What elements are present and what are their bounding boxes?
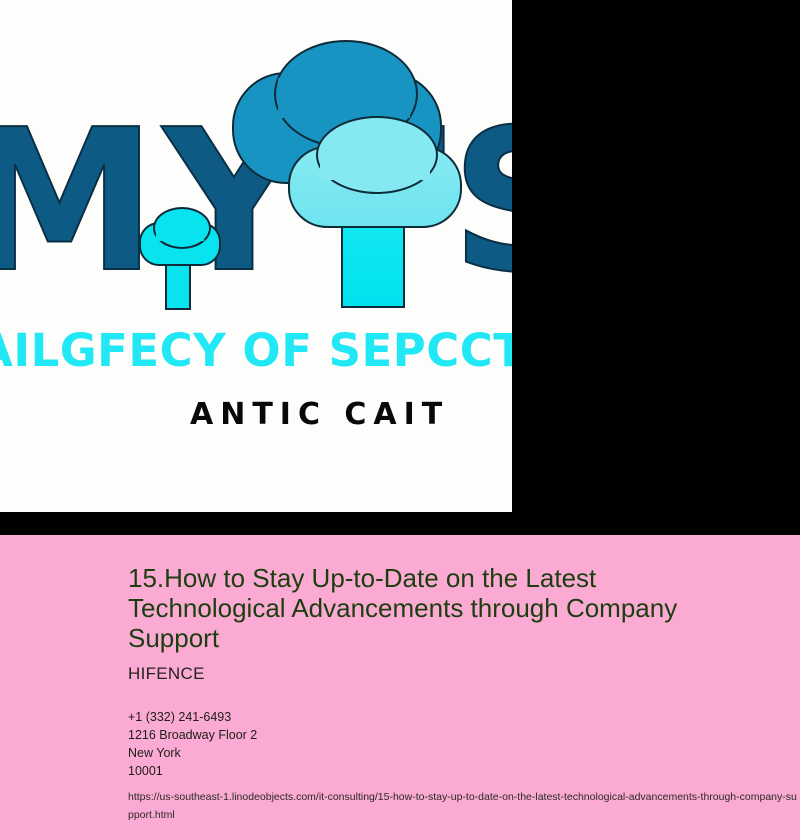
content-panel: 15.How to Stay Up-to-Date on the Latest … — [0, 535, 800, 840]
cloud-mushroom-large-icon — [288, 146, 458, 306]
cloud-mushroom-small-icon — [139, 222, 217, 304]
page-title: 15.How to Stay Up-to-Date on the Latest … — [128, 563, 728, 653]
hero-banner: MYTS AILGF — [0, 0, 800, 535]
contact-zip: 10001 — [128, 762, 257, 780]
contact-phone: +1 (332) 241-6493 — [128, 708, 257, 726]
logo-artwork: MYTS AILGF — [0, 0, 512, 512]
logo-subtagline: ANTIC CAIT — [190, 398, 449, 432]
contact-city: New York — [128, 744, 257, 762]
brand-label: HIFENCE — [128, 664, 205, 684]
contact-block: +1 (332) 241-6493 1216 Broadway Floor 2 … — [128, 708, 257, 780]
contact-street: 1216 Broadway Floor 2 — [128, 726, 257, 744]
logo-tagline: AILGFECY OF SEPCCT — [0, 326, 512, 376]
page-root: MYTS AILGF — [0, 0, 800, 840]
source-url-link[interactable]: https://us-southeast-1.linodeobjects.com… — [128, 788, 800, 824]
